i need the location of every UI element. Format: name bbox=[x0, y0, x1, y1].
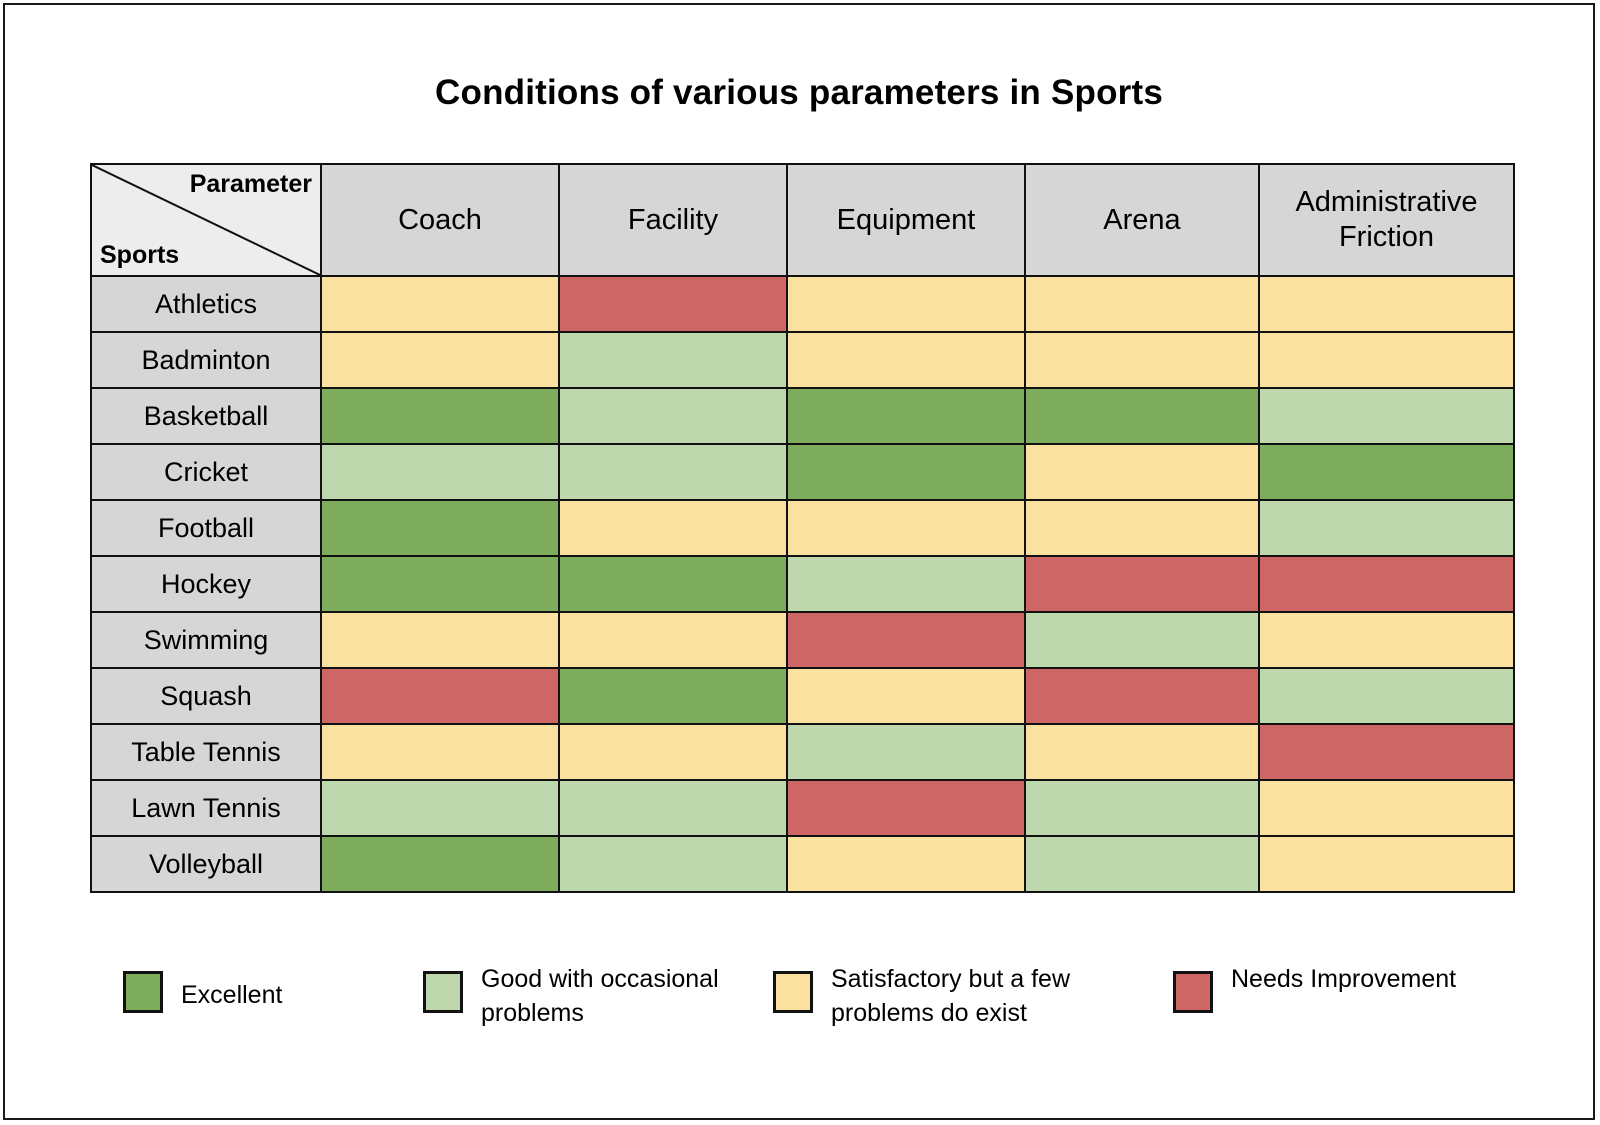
cell-cricket-equipment bbox=[787, 444, 1025, 500]
table-row: Badminton bbox=[91, 332, 1514, 388]
cell-squash-facility bbox=[559, 668, 787, 724]
cell-hockey-arena bbox=[1025, 556, 1259, 612]
cell-basketball-equipment bbox=[787, 388, 1025, 444]
row-header-volleyball: Volleyball bbox=[91, 836, 321, 892]
table-body: AthleticsBadmintonBasketballCricketFootb… bbox=[91, 276, 1514, 892]
corner-header-cell: Parameter Sports bbox=[91, 164, 321, 276]
row-header-athletics: Athletics bbox=[91, 276, 321, 332]
legend-swatch-good-icon bbox=[423, 971, 463, 1013]
cell-cricket-arena bbox=[1025, 444, 1259, 500]
cell-lawn-tennis-administrative-friction bbox=[1259, 780, 1514, 836]
table-row: Squash bbox=[91, 668, 1514, 724]
legend-label: Needs Improvement bbox=[1231, 963, 1456, 997]
legend: ExcellentGood with occasional problemsSa… bbox=[123, 963, 1523, 1031]
cell-football-equipment bbox=[787, 500, 1025, 556]
table-row: Table Tennis bbox=[91, 724, 1514, 780]
legend-swatch-satisfactory-icon bbox=[773, 971, 813, 1013]
legend-item-excellent: Excellent bbox=[123, 963, 423, 1013]
legend-swatch-needs-improvement-icon bbox=[1173, 971, 1213, 1013]
row-header-lawn-tennis: Lawn Tennis bbox=[91, 780, 321, 836]
cell-swimming-equipment bbox=[787, 612, 1025, 668]
cell-swimming-administrative-friction bbox=[1259, 612, 1514, 668]
legend-item-needs-improvement: Needs Improvement bbox=[1173, 963, 1473, 1013]
column-header-arena: Arena bbox=[1025, 164, 1259, 276]
cell-volleyball-facility bbox=[559, 836, 787, 892]
cell-athletics-arena bbox=[1025, 276, 1259, 332]
cell-football-coach bbox=[321, 500, 559, 556]
conditions-matrix-table: Parameter Sports CoachFacilityEquipmentA… bbox=[90, 163, 1515, 893]
legend-label: Satisfactory but a few problems do exist bbox=[831, 963, 1111, 1031]
row-header-football: Football bbox=[91, 500, 321, 556]
page-frame: Conditions of various parameters in Spor… bbox=[3, 3, 1595, 1120]
row-header-hockey: Hockey bbox=[91, 556, 321, 612]
cell-swimming-arena bbox=[1025, 612, 1259, 668]
cell-squash-administrative-friction bbox=[1259, 668, 1514, 724]
cell-swimming-facility bbox=[559, 612, 787, 668]
cell-football-administrative-friction bbox=[1259, 500, 1514, 556]
table-row: Swimming bbox=[91, 612, 1514, 668]
cell-squash-coach bbox=[321, 668, 559, 724]
cell-badminton-equipment bbox=[787, 332, 1025, 388]
table-row: Basketball bbox=[91, 388, 1514, 444]
header-row: Parameter Sports CoachFacilityEquipmentA… bbox=[91, 164, 1514, 276]
cell-basketball-facility bbox=[559, 388, 787, 444]
cell-basketball-administrative-friction bbox=[1259, 388, 1514, 444]
cell-badminton-administrative-friction bbox=[1259, 332, 1514, 388]
legend-item-satisfactory: Satisfactory but a few problems do exist bbox=[773, 963, 1173, 1031]
cell-athletics-coach bbox=[321, 276, 559, 332]
cell-table-tennis-arena bbox=[1025, 724, 1259, 780]
cell-cricket-facility bbox=[559, 444, 787, 500]
cell-cricket-coach bbox=[321, 444, 559, 500]
legend-swatch-excellent-icon bbox=[123, 971, 163, 1013]
column-header-administrative-friction: Administrative Friction bbox=[1259, 164, 1514, 276]
cell-lawn-tennis-coach bbox=[321, 780, 559, 836]
legend-label: Excellent bbox=[181, 979, 282, 1013]
cell-athletics-administrative-friction bbox=[1259, 276, 1514, 332]
cell-volleyball-equipment bbox=[787, 836, 1025, 892]
table-row: Lawn Tennis bbox=[91, 780, 1514, 836]
cell-table-tennis-coach bbox=[321, 724, 559, 780]
legend-item-good: Good with occasional problems bbox=[423, 963, 773, 1031]
cell-table-tennis-facility bbox=[559, 724, 787, 780]
cell-volleyball-coach bbox=[321, 836, 559, 892]
cell-table-tennis-administrative-friction bbox=[1259, 724, 1514, 780]
row-header-badminton: Badminton bbox=[91, 332, 321, 388]
cell-volleyball-administrative-friction bbox=[1259, 836, 1514, 892]
cell-lawn-tennis-facility bbox=[559, 780, 787, 836]
cell-athletics-equipment bbox=[787, 276, 1025, 332]
cell-cricket-administrative-friction bbox=[1259, 444, 1514, 500]
cell-basketball-coach bbox=[321, 388, 559, 444]
cell-badminton-arena bbox=[1025, 332, 1259, 388]
row-header-table-tennis: Table Tennis bbox=[91, 724, 321, 780]
row-header-cricket: Cricket bbox=[91, 444, 321, 500]
cell-football-facility bbox=[559, 500, 787, 556]
table-row: Cricket bbox=[91, 444, 1514, 500]
legend-label: Good with occasional problems bbox=[481, 963, 761, 1031]
corner-sports-label: Sports bbox=[100, 242, 179, 270]
cell-swimming-coach bbox=[321, 612, 559, 668]
cell-lawn-tennis-equipment bbox=[787, 780, 1025, 836]
column-header-coach: Coach bbox=[321, 164, 559, 276]
cell-football-arena bbox=[1025, 500, 1259, 556]
cell-squash-equipment bbox=[787, 668, 1025, 724]
table-row: Athletics bbox=[91, 276, 1514, 332]
cell-badminton-coach bbox=[321, 332, 559, 388]
table-row: Volleyball bbox=[91, 836, 1514, 892]
row-header-squash: Squash bbox=[91, 668, 321, 724]
cell-hockey-facility bbox=[559, 556, 787, 612]
corner-parameter-label: Parameter bbox=[190, 171, 312, 199]
table-row: Hockey bbox=[91, 556, 1514, 612]
cell-volleyball-arena bbox=[1025, 836, 1259, 892]
row-header-basketball: Basketball bbox=[91, 388, 321, 444]
page-title: Conditions of various parameters in Spor… bbox=[5, 73, 1593, 113]
table-header: Parameter Sports CoachFacilityEquipmentA… bbox=[91, 164, 1514, 276]
cell-badminton-facility bbox=[559, 332, 787, 388]
cell-hockey-administrative-friction bbox=[1259, 556, 1514, 612]
table-row: Football bbox=[91, 500, 1514, 556]
cell-lawn-tennis-arena bbox=[1025, 780, 1259, 836]
cell-squash-arena bbox=[1025, 668, 1259, 724]
row-header-swimming: Swimming bbox=[91, 612, 321, 668]
column-header-equipment: Equipment bbox=[787, 164, 1025, 276]
cell-table-tennis-equipment bbox=[787, 724, 1025, 780]
cell-athletics-facility bbox=[559, 276, 787, 332]
cell-hockey-coach bbox=[321, 556, 559, 612]
column-header-facility: Facility bbox=[559, 164, 787, 276]
cell-basketball-arena bbox=[1025, 388, 1259, 444]
cell-hockey-equipment bbox=[787, 556, 1025, 612]
